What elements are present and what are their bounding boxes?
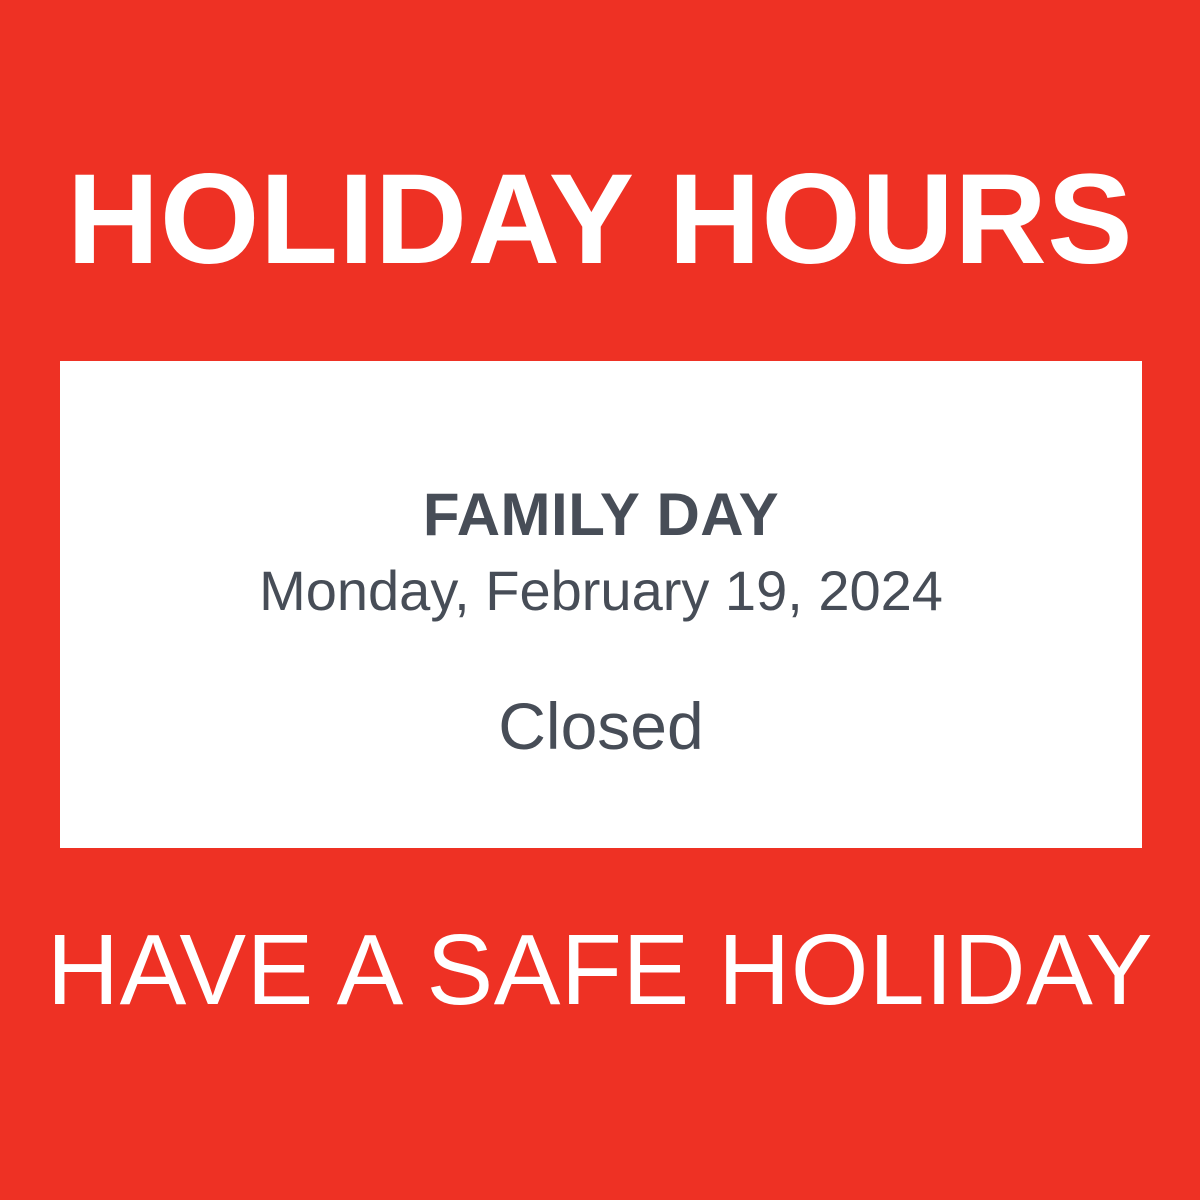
status-badge: Closed: [498, 690, 703, 763]
holiday-detail-card: FAMILY DAY Monday, February 19, 2024 Clo…: [60, 361, 1142, 848]
footer-message: HAVE A SAFE HOLIDAY: [0, 920, 1200, 1020]
holiday-hours-poster: HOLIDAY HOURS FAMILY DAY Monday, Februar…: [0, 0, 1200, 1200]
page-title: HOLIDAY HOURS: [0, 156, 1200, 284]
holiday-name: FAMILY DAY: [423, 483, 779, 546]
holiday-date: Monday, February 19, 2024: [259, 560, 943, 622]
